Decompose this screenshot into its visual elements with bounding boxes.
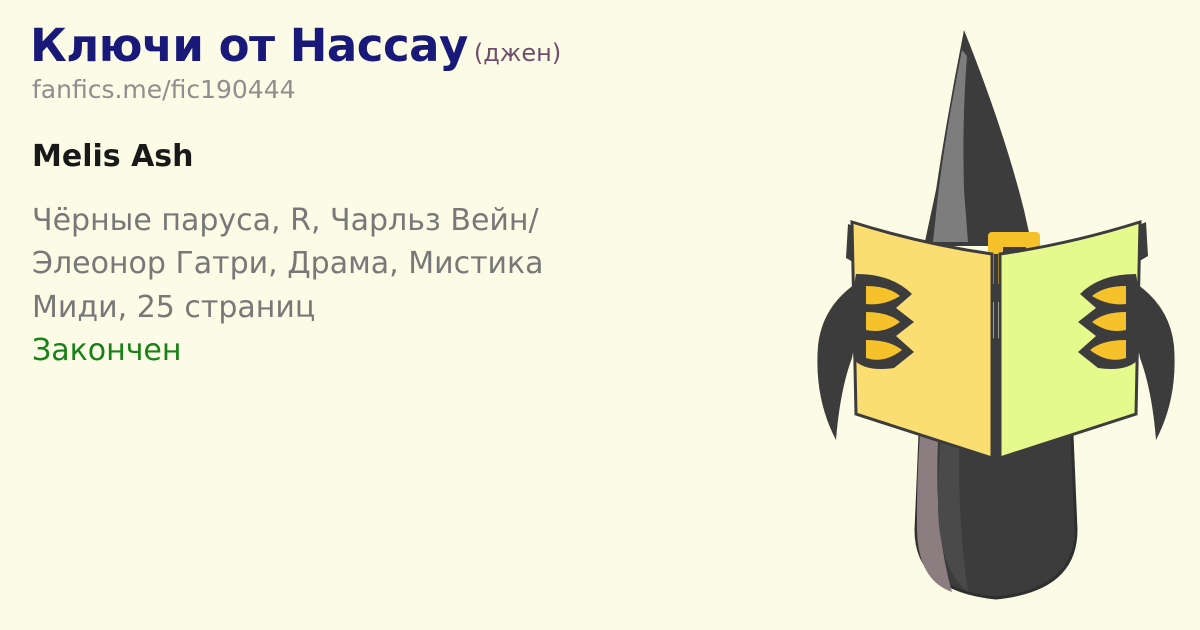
text-column: Ключи от Нассау(джен) fanfics.me/fic1904… <box>30 22 750 372</box>
fic-url[interactable]: fanfics.me/fic190444 <box>32 75 750 105</box>
fic-author[interactable]: Melis Ash <box>32 139 750 175</box>
fic-meta: Чёрные паруса, R, Чарльз Вейн/Элеонор Га… <box>32 199 672 285</box>
wizard-illustration <box>796 10 1196 620</box>
fic-size: Миди, 25 страниц <box>32 286 750 329</box>
fic-category: (джен) <box>468 39 561 67</box>
fanfic-preview-card: Ключи от Нассау(джен) fanfics.me/fic1904… <box>0 0 1200 630</box>
fic-title: Ключи от Нассау <box>30 19 468 72</box>
page-title: Ключи от Нассау(джен) <box>30 22 750 69</box>
status-badge: Закончен <box>32 329 750 372</box>
